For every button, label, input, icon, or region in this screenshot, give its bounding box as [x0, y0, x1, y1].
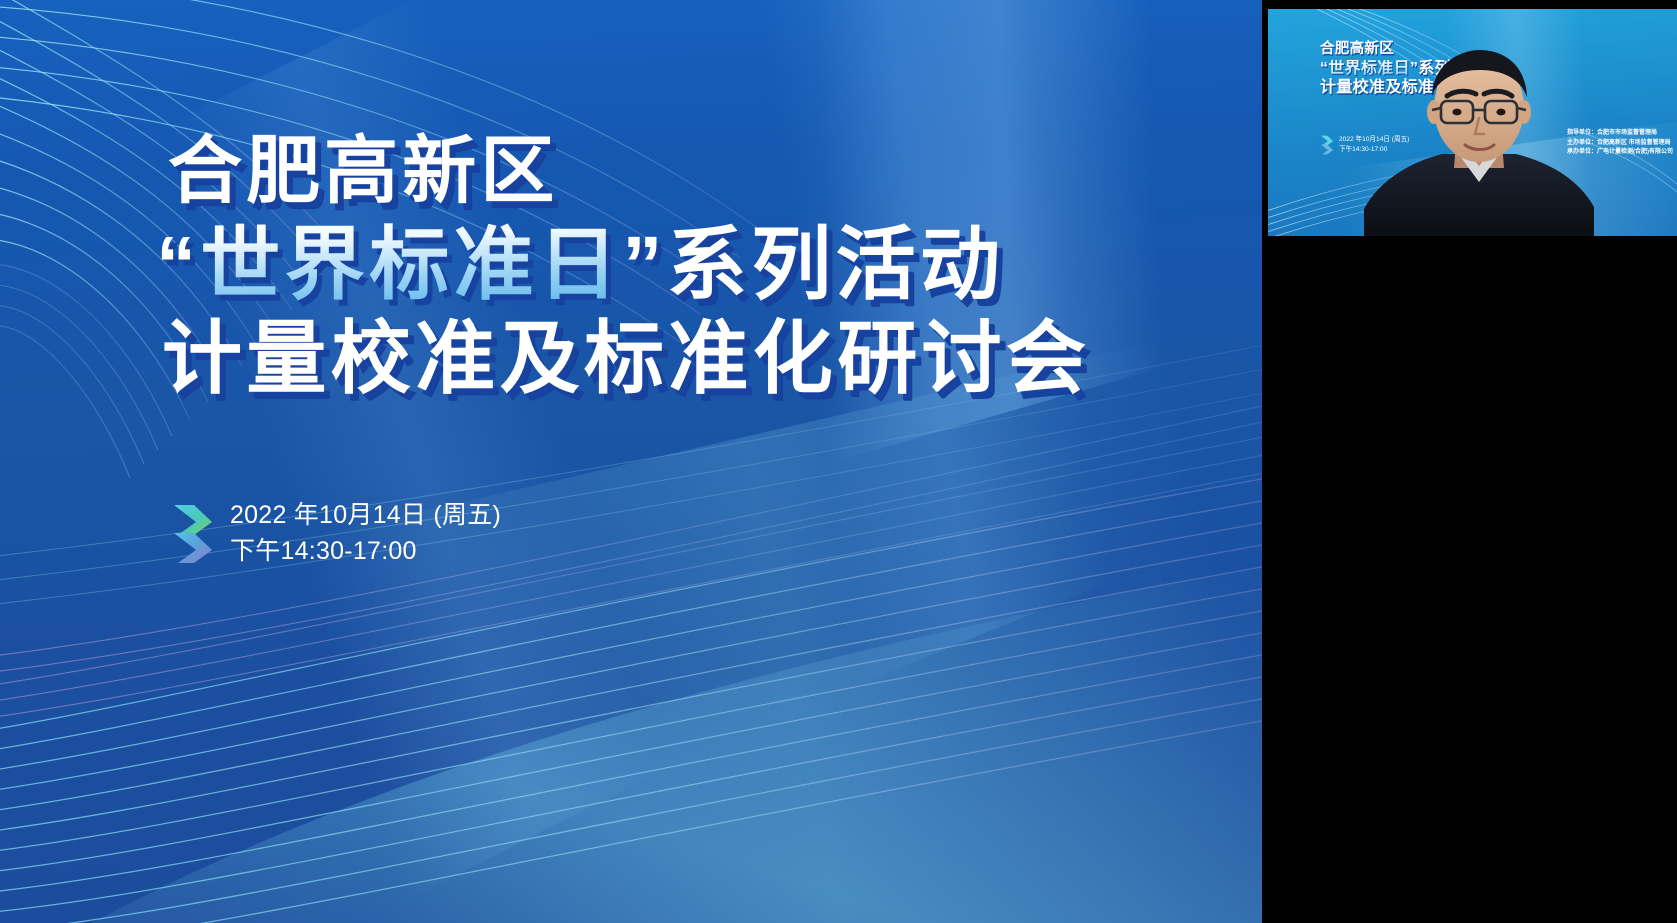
event-datetime-text: 2022 年10月14日 (周五) 下午14:30-17:00 — [230, 498, 501, 569]
slide-title-block: 合肥高新区 “世界标准日”系列活动 计量校准及标准化研讨会 — [168, 134, 1128, 399]
title-line-2: “世界标准日”系列活动 — [156, 225, 1128, 305]
title-line-3: 计量校准及标准化研讨会 — [162, 319, 1128, 399]
video-participants-panel: 合肥高新区 “世界标准日”系列活动 计量校准及标准化研讨会 2022 年10月1… — [1262, 0, 1677, 923]
event-time: 下午14:30-17:00 — [230, 534, 501, 570]
event-datetime-block: 2022 年10月14日 (周五) 下午14:30-17:00 — [172, 498, 501, 569]
title-line-1: 合肥高新区 — [168, 134, 1128, 208]
title-close-quote: ” — [622, 220, 666, 309]
participant-video-tile[interactable]: 合肥高新区 “世界标准日”系列活动 计量校准及标准化研讨会 2022 年10月1… — [1268, 9, 1677, 236]
double-chevron-icon — [172, 503, 214, 565]
mini-double-chevron-icon — [1320, 135, 1334, 155]
title-highlight: 世界标准日 — [200, 220, 622, 309]
shared-slide: 合肥高新区 “世界标准日”系列活动 计量校准及标准化研讨会 — [0, 0, 1262, 923]
title-line-2-rest: 系列活动 — [667, 220, 1005, 309]
participant-speaker-silhouette — [1364, 46, 1594, 236]
screen-root: 合肥高新区 “世界标准日”系列活动 计量校准及标准化研讨会 — [0, 0, 1677, 923]
event-date: 2022 年10月14日 (周五) — [230, 498, 501, 534]
panel-empty-area — [1262, 236, 1677, 923]
title-open-quote: “ — [156, 220, 200, 309]
